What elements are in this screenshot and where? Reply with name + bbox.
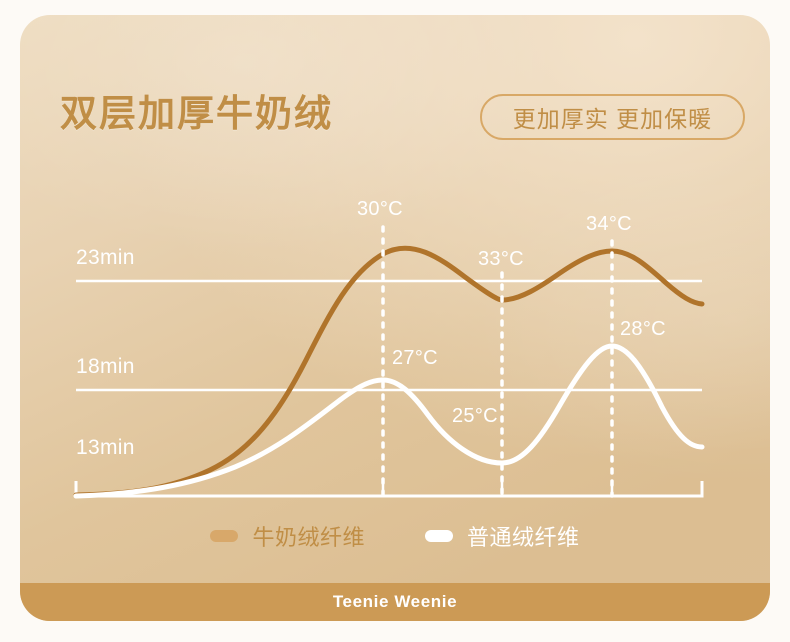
product-info-card: 双层加厚牛奶绒 更加厚实 更加保暖 bbox=[20, 15, 770, 621]
brand-name: Teenie Weenie bbox=[333, 592, 457, 612]
temp-label-30c: 30°C bbox=[357, 198, 403, 221]
legend-item-normal-fiber: 普通绒纤维 bbox=[425, 520, 580, 552]
temp-label-25c: 25°C bbox=[452, 405, 498, 428]
series-line-milk-fiber bbox=[76, 248, 702, 495]
screenshot-root: 双层加厚牛奶绒 更加厚实 更加保暖 bbox=[0, 0, 790, 642]
y-axis-label-23min: 23min bbox=[76, 246, 135, 270]
y-axis-label-13min: 13min bbox=[76, 436, 135, 460]
brand-footer-bar: Teenie Weenie bbox=[20, 583, 770, 621]
legend-swatch-icon-normal-fiber bbox=[425, 530, 453, 542]
y-axis-label-18min: 18min bbox=[76, 355, 135, 379]
legend-label-milk-fiber: 牛奶绒纤维 bbox=[252, 520, 365, 552]
legend-label-normal-fiber: 普通绒纤维 bbox=[467, 520, 580, 552]
legend-item-milk-fiber: 牛奶绒纤维 bbox=[210, 520, 365, 552]
temp-label-33c: 33°C bbox=[478, 248, 524, 271]
temp-label-28c: 28°C bbox=[620, 318, 666, 341]
legend-swatch-icon-milk-fiber bbox=[210, 530, 238, 542]
temp-label-34c: 34°C bbox=[586, 213, 632, 236]
chart-legend: 牛奶绒纤维 普通绒纤维 bbox=[20, 520, 770, 552]
series-line-normal-fiber bbox=[76, 346, 702, 496]
temp-label-27c: 27°C bbox=[392, 347, 438, 370]
